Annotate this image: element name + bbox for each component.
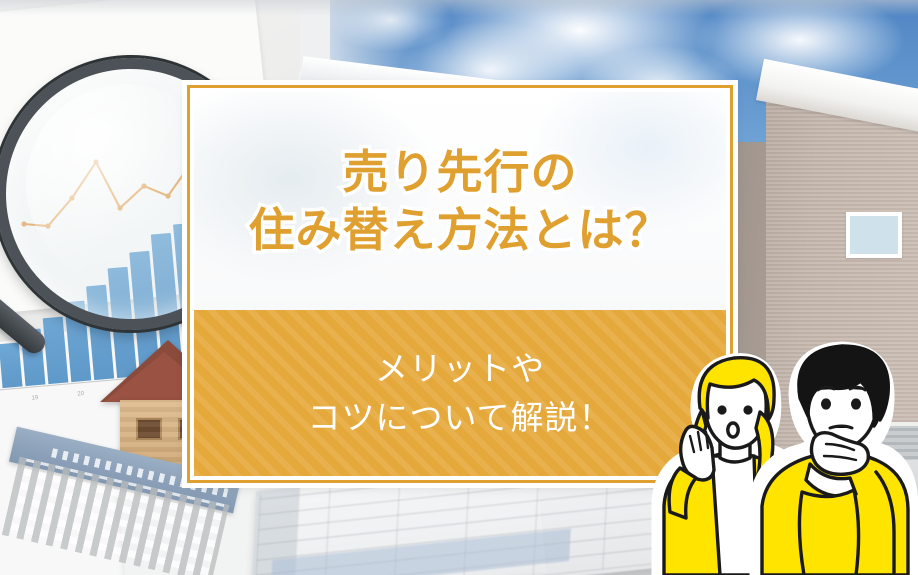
title-line-1: 売り先行の (343, 145, 578, 199)
banner-image: 19 20 21 22 23 (0, 0, 918, 575)
title-card: 売り先行の 住み替え方法とは？ メリットや コツについて解説！ (190, 88, 730, 480)
chart-tick-label: 20 (77, 391, 84, 398)
house-model-window (136, 418, 162, 440)
top-haze (0, 0, 918, 16)
character-man (756, 346, 912, 575)
subtitle-panel: メリットや コツについて解説！ (194, 310, 726, 476)
title-panel: 売り先行の 住み替え方法とは？ (194, 92, 726, 310)
title-line-2: 住み替え方法とは？ (249, 203, 672, 257)
subtitle-line-1: メリットや (375, 348, 545, 389)
subtitle-line-2: コツについて解説！ (307, 397, 612, 438)
chart-tick-label: 19 (31, 395, 38, 402)
character-illustration (650, 332, 918, 575)
chart-bar (43, 317, 69, 384)
house-window-upper (846, 212, 902, 258)
chart-bar (0, 343, 23, 389)
